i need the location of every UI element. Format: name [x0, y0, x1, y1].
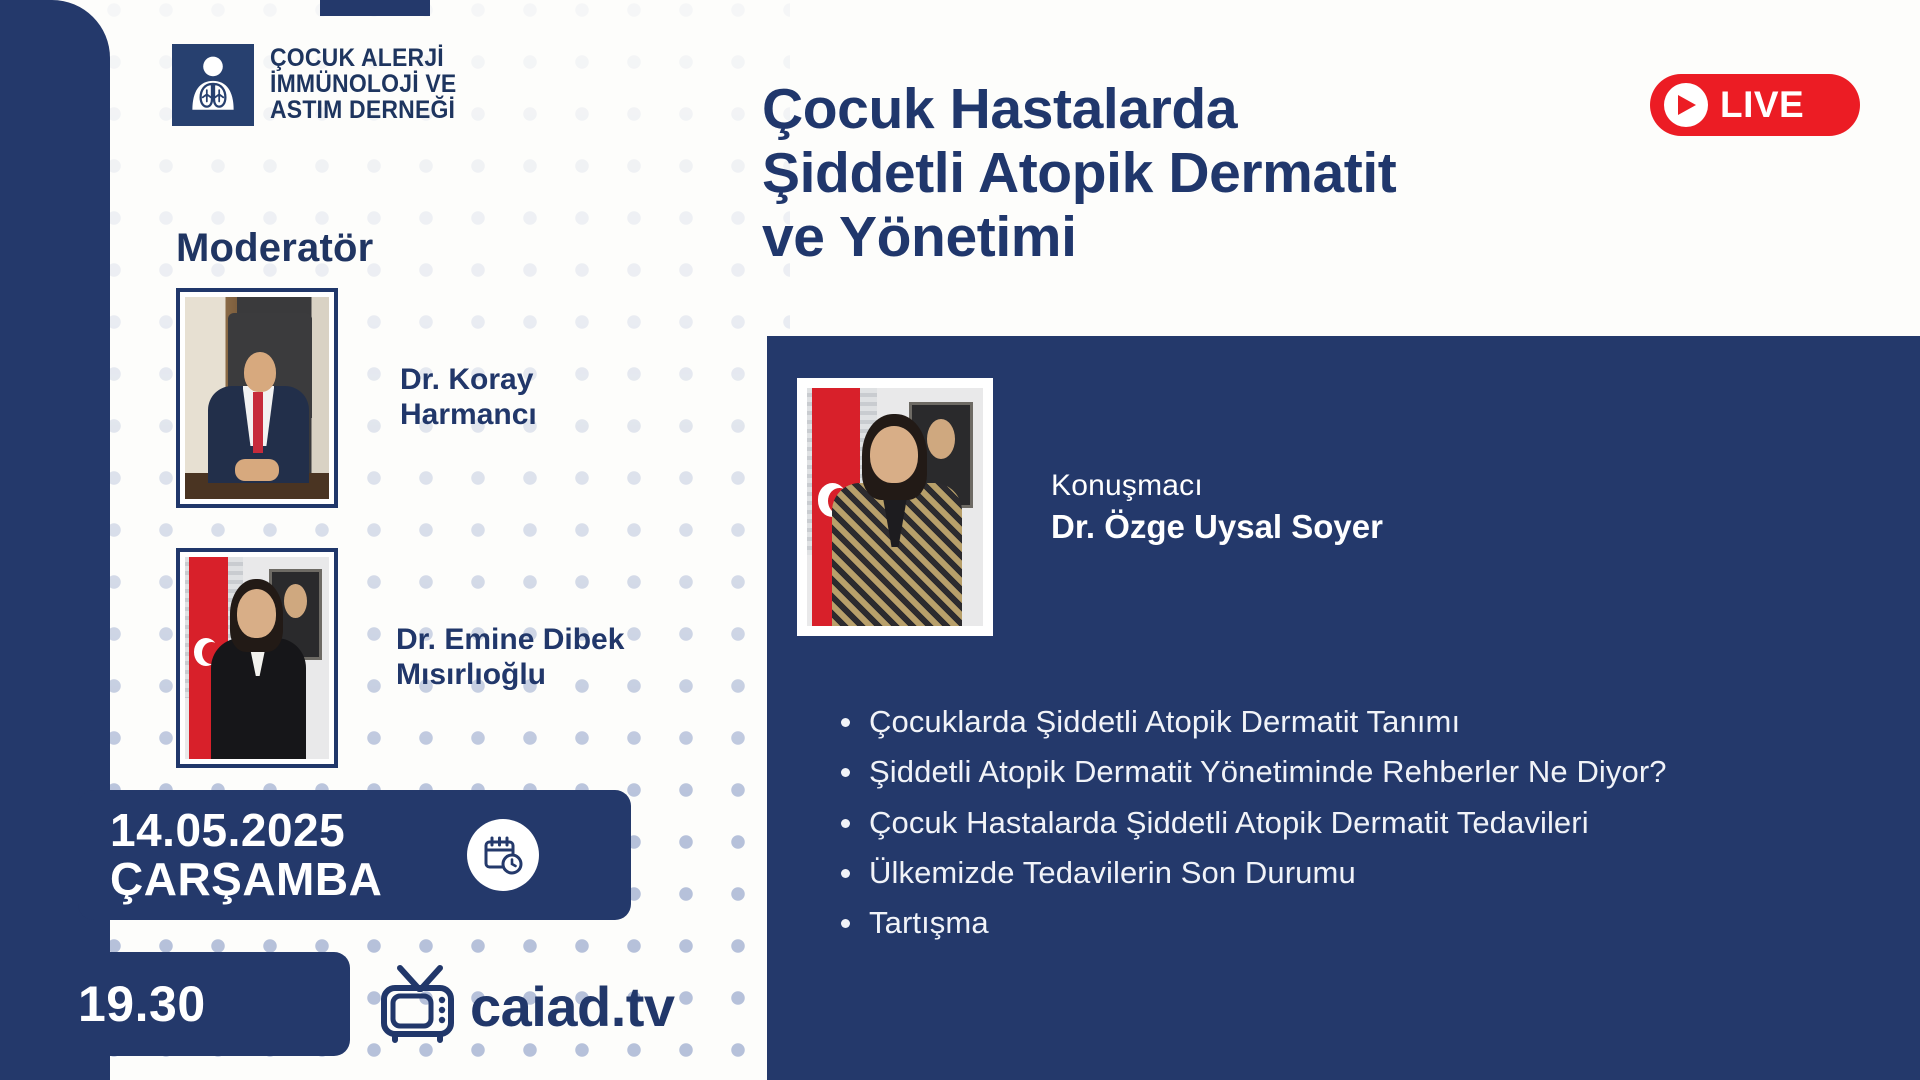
moderator-photo-2 — [176, 548, 338, 768]
live-label: LIVE — [1720, 84, 1804, 126]
event-date-banner: 14.05.2025 ÇARŞAMBA — [78, 790, 631, 920]
site-url[interactable]: caiad.tv — [470, 974, 675, 1039]
moderator-2-line-2: Mısırlıoğlu — [396, 658, 624, 693]
association-logo: ÇOCUK ALERJİ İMMÜNOLOJİ VE ASTIM DERNEĞİ — [172, 44, 473, 126]
webinar-poster: ÇOCUK ALERJİ İMMÜNOLOJİ VE ASTIM DERNEĞİ… — [0, 0, 1920, 1080]
logo-line-2: İMMÜNOLOJİ VE — [270, 72, 456, 98]
top-accent-tab — [320, 0, 430, 16]
logo-line-3: ASTIM DERNEĞİ — [270, 98, 456, 124]
person-lungs-icon — [172, 44, 254, 126]
list-item: Tartışma — [827, 903, 1887, 943]
moderator-2-line-1: Dr. Emine Dibek — [396, 623, 624, 658]
moderator-item-1: Dr. Koray Harmancı — [176, 288, 537, 508]
title-line-1: Çocuk Hastalarda — [762, 78, 1622, 142]
page-title: Çocuk Hastalarda Şiddetli Atopik Dermati… — [762, 78, 1622, 269]
event-time: 19.30 — [78, 975, 206, 1033]
television-icon — [378, 962, 464, 1051]
broadcast-site[interactable]: caiad.tv — [378, 962, 675, 1051]
list-item: Çocuk Hastalarda Şiddetli Atopik Dermati… — [827, 803, 1887, 843]
moderator-name-2: Dr. Emine Dibek Mısırlıoğlu — [396, 623, 624, 693]
speaker-role: Konuşmacı — [1051, 467, 1383, 505]
moderator-heading: Moderatör — [176, 226, 373, 271]
speaker-panel: Konuşmacı Dr. Özge Uysal Soyer Çocuklard… — [767, 336, 1920, 1080]
title-line-3: ve Yönetimi — [762, 206, 1622, 270]
moderator-1-line-2: Harmancı — [400, 398, 537, 433]
moderator-item-2: Dr. Emine Dibek Mısırlıoğlu — [176, 548, 624, 768]
moderator-name-1: Dr. Koray Harmancı — [400, 363, 537, 433]
topic-list: Çocuklarda Şiddetli Atopik Dermatit Tanı… — [827, 702, 1887, 953]
list-item: Ülkemizde Tedavilerin Son Durumu — [827, 853, 1887, 893]
event-date: 14.05.2025 — [110, 806, 382, 855]
logo-line-1: ÇOCUK ALERJİ — [270, 46, 456, 72]
event-time-box: 19.30 — [0, 952, 350, 1056]
event-date-text: 14.05.2025 ÇARŞAMBA — [110, 806, 382, 904]
speaker-name: Dr. Özge Uysal Soyer — [1051, 506, 1383, 547]
title-line-2: Şiddetli Atopik Dermatit — [762, 142, 1622, 206]
calendar-clock-icon — [467, 819, 539, 891]
event-day: ÇARŞAMBA — [110, 855, 382, 904]
moderator-1-line-1: Dr. Koray — [400, 363, 537, 398]
live-badge[interactable]: LIVE — [1650, 74, 1860, 136]
list-item: Şiddetli Atopik Dermatit Yönetiminde Reh… — [827, 752, 1887, 792]
speaker-photo — [797, 378, 993, 636]
speaker-block: Konuşmacı Dr. Özge Uysal Soyer — [797, 378, 1383, 636]
moderator-photo-1 — [176, 288, 338, 508]
play-icon — [1664, 83, 1708, 127]
association-name: ÇOCUK ALERJİ İMMÜNOLOJİ VE ASTIM DERNEĞİ — [270, 46, 456, 123]
speaker-meta: Konuşmacı Dr. Özge Uysal Soyer — [1051, 467, 1383, 548]
list-item: Çocuklarda Şiddetli Atopik Dermatit Tanı… — [827, 702, 1887, 742]
